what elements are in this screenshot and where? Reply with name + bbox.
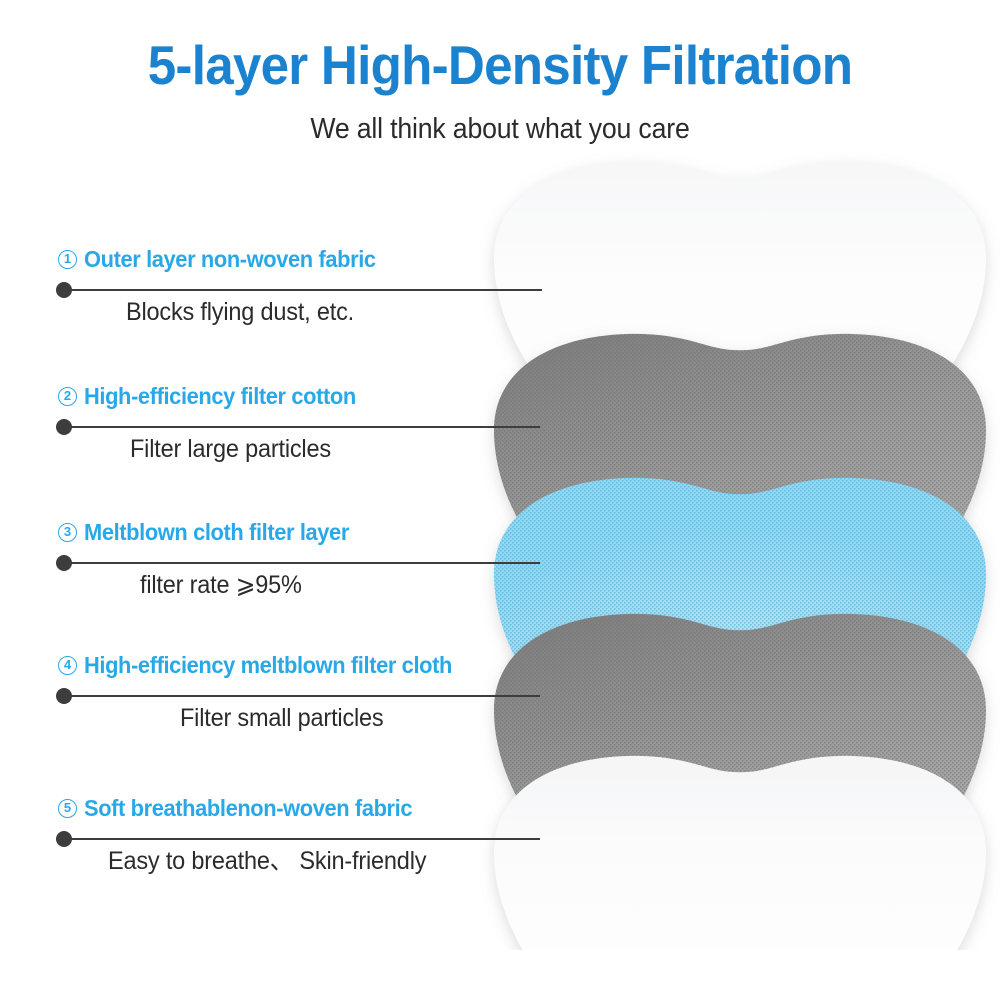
callout-1-heading-label: Outer layer non-woven fabric bbox=[84, 246, 376, 272]
callout-3-leader-line bbox=[64, 562, 540, 564]
callout-1-heading: 1 Outer layer non-woven fabric bbox=[58, 246, 391, 272]
mask-filtration-infographic: 5-layer High-Density Filtration We all t… bbox=[0, 0, 1000, 1000]
callout-5-number-badge: 5 bbox=[58, 799, 77, 818]
callout-5-heading: 5 Soft breathablenon-woven fabric bbox=[58, 795, 429, 821]
callout-4-leader-line bbox=[64, 695, 540, 697]
callout-3-number-badge: 3 bbox=[58, 523, 77, 542]
callout-3-heading: 3 Meltblown cloth filter layer bbox=[58, 519, 363, 545]
callout-2-heading: 2 High-efficiency filter cotton bbox=[58, 383, 370, 409]
callout-4-number-badge: 4 bbox=[58, 656, 77, 675]
callout-3-description: filter rate ⩾95% bbox=[140, 569, 302, 601]
callout-2-leader-line bbox=[64, 426, 540, 428]
callout-4-heading: 4 High-efficiency meltblown filter cloth bbox=[58, 652, 471, 678]
callout-5-leader-line bbox=[64, 838, 540, 840]
callout-2-number-badge: 2 bbox=[58, 387, 77, 406]
callout-5-description: Easy to breathe、 Skin-friendly bbox=[108, 845, 426, 877]
callout-1-description: Blocks flying dust, etc. bbox=[126, 296, 354, 328]
callout-4-description: Filter small particles bbox=[180, 702, 383, 734]
callout-1-leader-line bbox=[64, 289, 542, 291]
callout-2-description: Filter large particles bbox=[130, 433, 331, 465]
callout-1-number-badge: 1 bbox=[58, 250, 77, 269]
callout-list: 1 Outer layer non-woven fabric Blocks fl… bbox=[0, 0, 1000, 1000]
callout-3-heading-label: Meltblown cloth filter layer bbox=[84, 519, 349, 545]
callout-4-heading-label: High-efficiency meltblown filter cloth bbox=[84, 652, 452, 678]
callout-2-heading-label: High-efficiency filter cotton bbox=[84, 383, 356, 409]
callout-5-heading-label: Soft breathablenon-woven fabric bbox=[84, 795, 412, 821]
